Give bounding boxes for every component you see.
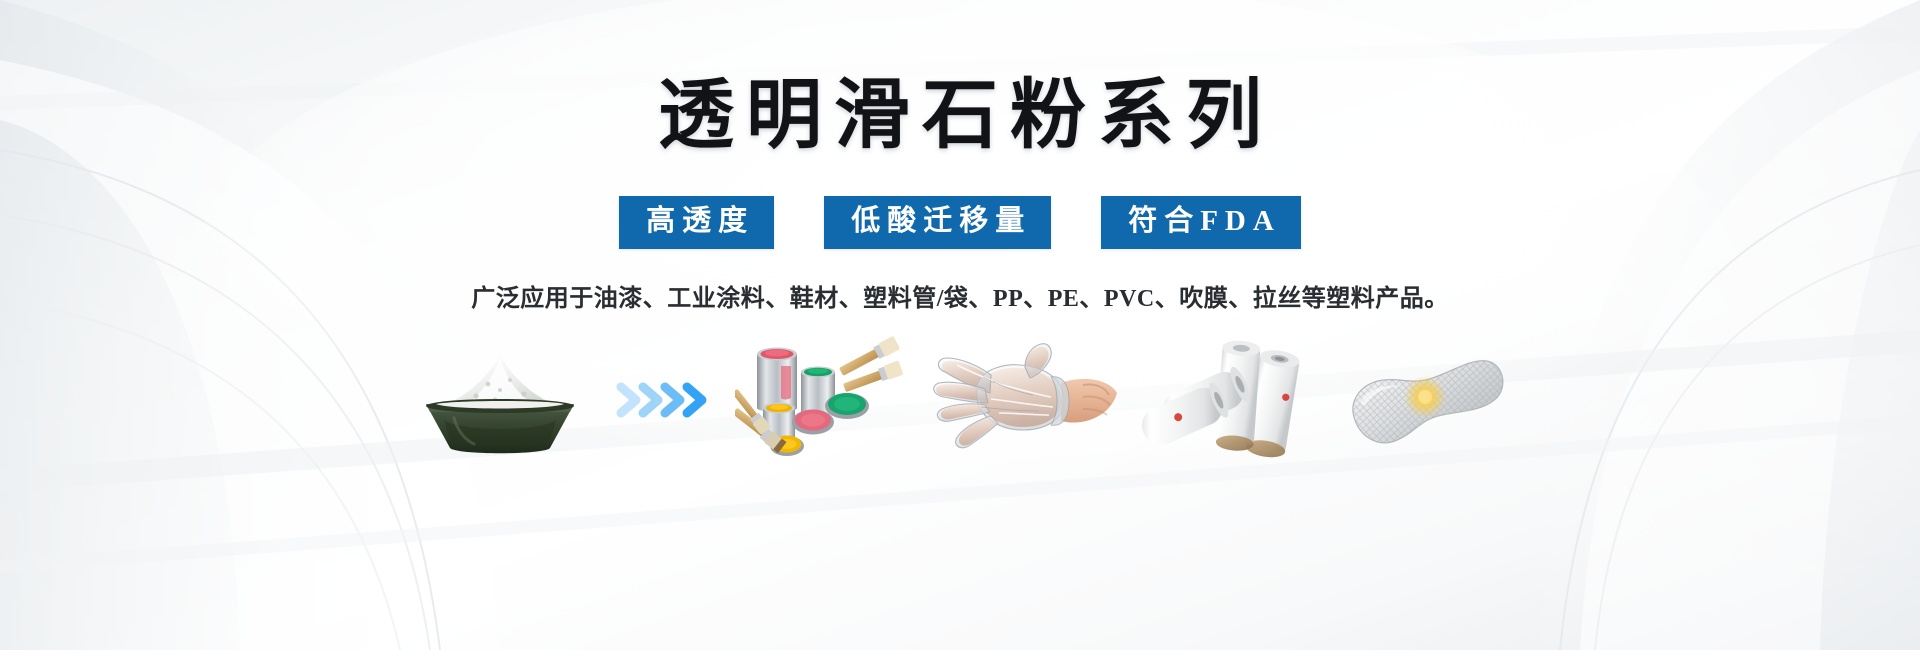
plastic-film-rolls-image	[1130, 338, 1320, 463]
film-rolls-icon	[1135, 339, 1315, 461]
page-title: 透明滑石粉系列	[646, 78, 1274, 154]
feature-badge-fda-compliant: 符合FDA	[1101, 196, 1301, 249]
paint-cans-icon	[735, 336, 915, 464]
feature-badge-list: 高透度 低酸迁移量 符合FDA	[619, 196, 1301, 249]
shoe-sole-icon	[1338, 345, 1513, 455]
chevron-arrows-icon	[615, 375, 715, 425]
powder-bowl-icon	[400, 340, 600, 460]
application-description: 广泛应用于油漆、工业涂料、鞋材、塑料管/袋、PP、PE、PVC、吹膜、拉丝等塑料…	[471, 287, 1448, 311]
shoe-sole-image	[1330, 340, 1520, 460]
banner-content: 透明滑石粉系列 高透度 低酸迁移量 符合FDA 广泛应用于油漆、工业涂料、鞋材、…	[0, 0, 1920, 650]
product-banner: 透明滑石粉系列 高透度 低酸迁移量 符合FDA 广泛应用于油漆、工业涂料、鞋材、…	[0, 0, 1920, 650]
feature-badge-high-transparency: 高透度	[619, 196, 774, 249]
application-image-strip	[400, 335, 1520, 465]
process-flow-arrows	[610, 340, 720, 460]
glove-hand-icon	[933, 343, 1118, 458]
talc-powder-bowl-image	[400, 340, 600, 460]
feature-badge-low-acid-migration: 低酸迁移量	[824, 196, 1051, 249]
paint-cans-image	[730, 335, 920, 465]
plastic-glove-hand-image	[930, 340, 1120, 460]
